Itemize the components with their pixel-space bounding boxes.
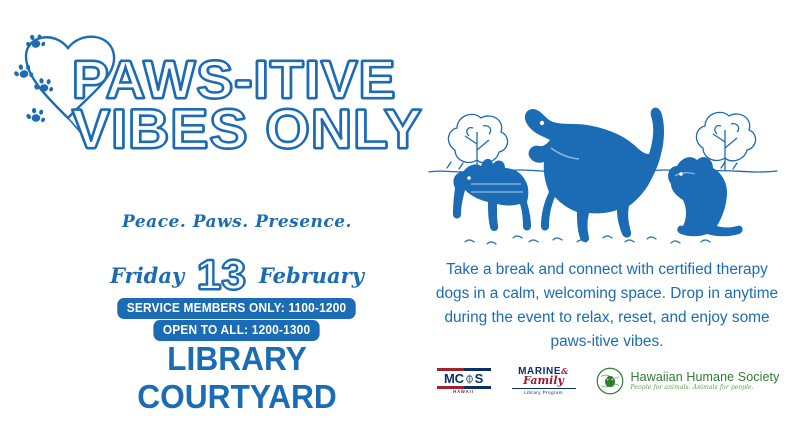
- event-date: Friday 13 February: [72, 250, 402, 300]
- humane-society-name: Hawaiian Humane Society: [631, 371, 780, 384]
- marine-subtitle: Library Program: [524, 390, 563, 395]
- event-weekday: Friday: [110, 263, 184, 288]
- mccs-wordmark: MC S: [444, 372, 483, 385]
- mccs-word-right: S: [475, 372, 483, 385]
- venue-name: LIBRARY COURTYARD: [79, 340, 396, 416]
- left-column: PAWS-ITIVE VIBES ONLY Peace. Paws. Prese…: [0, 0, 410, 440]
- event-month: February: [259, 263, 364, 288]
- logo-marine-and-family: MARINE& Family Library Program: [509, 367, 579, 395]
- tagline: Peace. Paws. Presence.: [72, 212, 402, 232]
- event-flyer: PAWS-ITIVE VIBES ONLY Peace. Paws. Prese…: [0, 0, 800, 440]
- right-column: Take a break and connect with certified …: [410, 0, 800, 440]
- mccs-subtitle: HAWAII: [453, 389, 474, 394]
- family-word: Family: [523, 375, 564, 386]
- status-badge-service-members: SERVICE MEMBERS ONLY: 1100-1200: [118, 298, 357, 319]
- event-day-number: 13: [197, 254, 246, 296]
- dog-silhouette-icon: [425, 92, 785, 252]
- sponsor-logos: MC S HAWAII MARINE&: [428, 356, 786, 406]
- humane-society-text: Hawaiian Humane Society People for anima…: [631, 371, 780, 392]
- title-line-2: VIBES ONLY: [72, 103, 409, 155]
- page-title: PAWS-ITIVE VIBES ONLY: [72, 55, 402, 155]
- logo-hawaiian-humane-society: Hawaiian Humane Society People for anima…: [595, 366, 780, 396]
- divider: [512, 388, 576, 389]
- description-text: Take a break and connect with certified …: [428, 258, 786, 354]
- humane-society-emblem-icon: [595, 366, 625, 396]
- logo-mccs: MC S HAWAII: [435, 368, 493, 394]
- mccs-word-left: MC: [444, 372, 464, 385]
- humane-society-tagline: People for animals. Animals for people.: [631, 385, 780, 391]
- status-badge-open-to-all: OPEN TO ALL: 1200-1300: [154, 320, 320, 341]
- time-badge-group: SERVICE MEMBERS ONLY: 1100-1200 OPEN TO …: [72, 298, 402, 341]
- eagle-globe-anchor-icon: [464, 373, 475, 384]
